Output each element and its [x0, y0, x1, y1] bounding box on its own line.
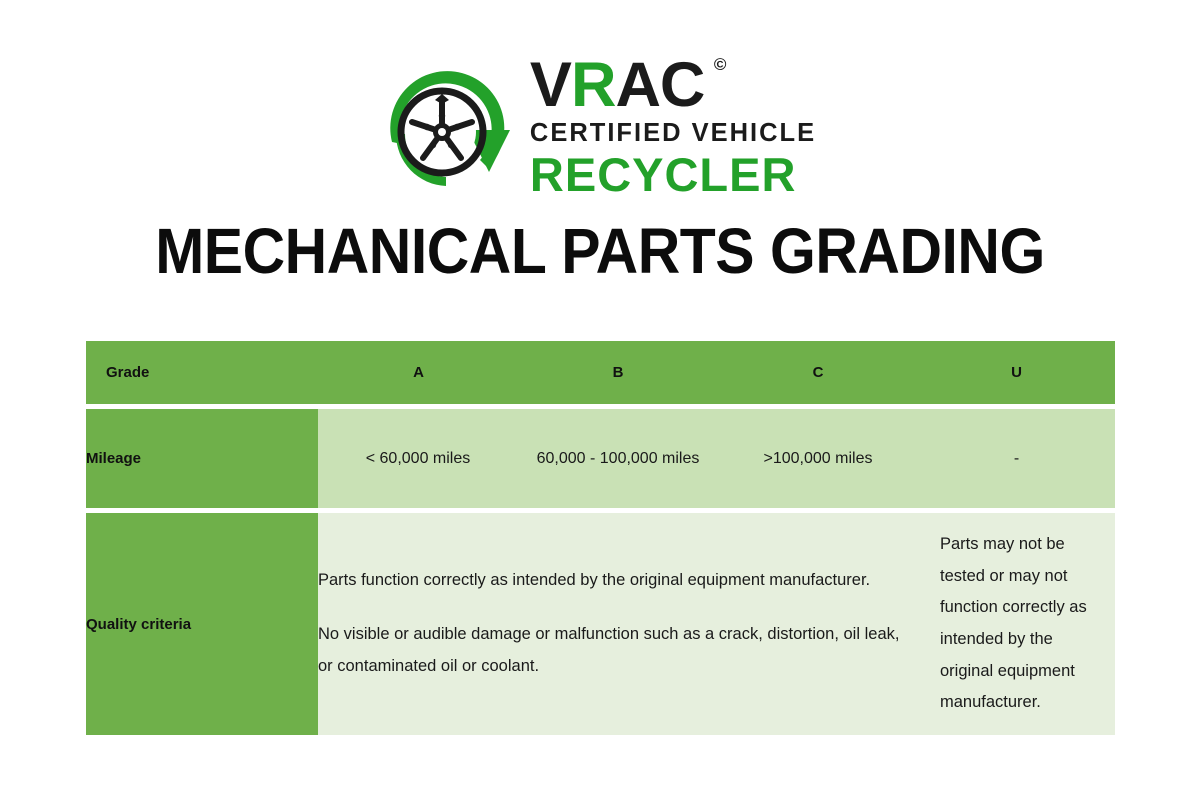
logo-recycler-line: RECYCLER: [530, 151, 797, 198]
logo-tagline: CERTIFIED VEHICLE: [530, 121, 816, 147]
logo-brand-line: VRAC©: [530, 55, 705, 115]
logo-letters-ac: AC: [615, 50, 704, 120]
page-title: MECHANICAL PARTS GRADING: [48, 219, 1152, 283]
logo-inner: VRAC© CERTIFIED VEHICLE RECYCLER: [384, 53, 816, 199]
logo-letter-v: V: [530, 50, 571, 120]
mileage-cell-b: 60,000 - 100,000 miles: [518, 409, 718, 508]
table-header-row: Grade A B C U: [86, 341, 1115, 404]
row-label-quality-criteria: Quality criteria: [86, 513, 318, 735]
vrac-logo: VRAC© CERTIFIED VEHICLE RECYCLER: [0, 48, 1200, 203]
mileage-cell-c: >100,000 miles: [718, 409, 918, 508]
mileage-cell-a: < 60,000 miles: [318, 409, 518, 508]
quality-paragraph-2: No visible or audible damage or malfunct…: [318, 619, 918, 682]
header-cell-u: U: [918, 341, 1115, 404]
logo-wordmark: VRAC© CERTIFIED VEHICLE RECYCLER: [530, 53, 816, 199]
quality-paragraph-1: Parts function correctly as intended by …: [318, 565, 918, 597]
header-cell-a: A: [318, 341, 518, 404]
table-row-mileage: Mileage < 60,000 miles 60,000 - 100,000 …: [86, 409, 1115, 508]
wheel-recycle-icon: [384, 56, 516, 196]
row-label-mileage: Mileage: [86, 409, 318, 508]
header-cell-c: C: [718, 341, 918, 404]
quality-cell-u: Parts may not be tested or may not funct…: [918, 513, 1115, 735]
mileage-cell-u: -: [918, 409, 1115, 508]
header-cell-grade: Grade: [86, 341, 318, 404]
header-cell-b: B: [518, 341, 718, 404]
logo-letter-r: R: [571, 50, 616, 120]
grading-table: Grade A B C U Mileage < 60,000 miles 60,…: [86, 341, 1115, 735]
copyright-icon: ©: [714, 57, 727, 73]
quality-cell-abc: Parts function correctly as intended by …: [318, 513, 918, 735]
table-row-quality-criteria: Quality criteria Parts function correctl…: [86, 513, 1115, 735]
grading-poster: VRAC© CERTIFIED VEHICLE RECYCLER MECHANI…: [0, 0, 1200, 800]
